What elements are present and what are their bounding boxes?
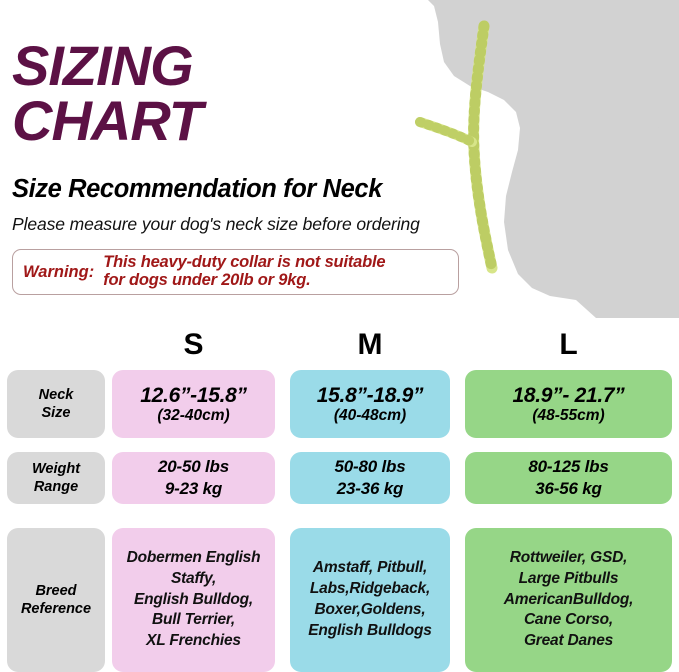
- cell-line-3: AmericanBulldog,: [504, 590, 633, 611]
- cell-line-4: English Bulldogs: [308, 621, 431, 642]
- cell-breed-reference-m: Amstaff, Pitbull,Labs,Ridgeback,Boxer,Go…: [290, 528, 450, 672]
- cell-line-2: Labs,Ridgeback,: [310, 579, 430, 600]
- column-header-m: M: [290, 330, 450, 360]
- cell-line-1: Rottweiler, GSD,: [510, 548, 627, 569]
- cell-sub-value: (32-40cm): [157, 407, 229, 425]
- row-label-line-2: Size: [41, 404, 70, 422]
- row-label-line-1: Breed: [35, 582, 76, 600]
- cell-neck-size-s: 12.6”-15.8”(32-40cm): [112, 370, 275, 438]
- column-header-l: L: [465, 330, 672, 360]
- title-line-1: SIZING: [12, 38, 432, 93]
- warning-box: Warning: This heavy-duty collar is not s…: [12, 249, 459, 295]
- cell-main-value: 12.6”-15.8”: [140, 384, 246, 407]
- table-row-breed-reference: BreedReferenceDobermen EnglishStaffy,Eng…: [0, 528, 679, 672]
- cell-sub-value: (40-48cm): [334, 407, 406, 425]
- cell-sub-value: (48-55cm): [532, 407, 604, 425]
- cell-line-5: Great Danes: [524, 631, 613, 652]
- cell-breed-reference-s: Dobermen EnglishStaffy,English Bulldog,B…: [112, 528, 275, 672]
- cell-line-2: Staffy,: [171, 569, 216, 590]
- cell-line-4: Cane Corso,: [524, 610, 613, 631]
- cell-main-value: 18.9”- 21.7”: [513, 384, 625, 407]
- table-row-neck-size: NeckSize12.6”-15.8”(32-40cm)15.8”-18.9”(…: [0, 370, 679, 438]
- cell-breed-reference-l: Rottweiler, GSD,Large PitbullsAmericanBu…: [465, 528, 672, 672]
- warning-line-2: for dogs under 20lb or 9kg.: [103, 272, 385, 290]
- row-label-breed-reference: BreedReference: [7, 528, 105, 672]
- row-label-line-1: Neck: [39, 386, 74, 404]
- row-label-weight-range: WeightRange: [7, 452, 105, 504]
- row-label-line-2: Range: [34, 478, 78, 496]
- table-row-weight-range: WeightRange20-50 lbs9-23 kg50-80 lbs23-3…: [0, 452, 679, 504]
- cell-line-1: 50-80 lbs: [335, 456, 406, 478]
- cell-main-value: 15.8”-18.9”: [317, 384, 423, 407]
- page-title: SIZING CHART: [12, 38, 432, 149]
- row-label-line-1: Weight: [32, 460, 80, 478]
- instruction-text: Please measure your dog's neck size befo…: [12, 214, 482, 235]
- cell-line-2: 9-23 kg: [165, 478, 222, 500]
- cell-line-1: Amstaff, Pitbull,: [313, 558, 427, 579]
- title-line-2: CHART: [12, 93, 432, 148]
- cell-line-2: 36-56 kg: [535, 478, 601, 500]
- cell-line-1: 20-50 lbs: [158, 456, 229, 478]
- cell-weight-range-m: 50-80 lbs23-36 kg: [290, 452, 450, 504]
- cell-line-1: Dobermen English: [127, 548, 261, 569]
- cell-line-4: Bull Terrier,: [152, 610, 235, 631]
- cell-neck-size-m: 15.8”-18.9”(40-48cm): [290, 370, 450, 438]
- row-label-neck-size: NeckSize: [7, 370, 105, 438]
- column-header-row: S M L: [0, 330, 679, 362]
- cell-line-3: English Bulldog,: [134, 590, 253, 611]
- warning-line-1: This heavy-duty collar is not suitable: [103, 254, 385, 272]
- row-label-line-2: Reference: [21, 600, 91, 618]
- size-table: S M L NeckSize12.6”-15.8”(32-40cm)15.8”-…: [0, 330, 679, 672]
- column-header-s: S: [112, 330, 275, 360]
- warning-message: This heavy-duty collar is not suitable f…: [103, 254, 385, 289]
- cell-neck-size-l: 18.9”- 21.7”(48-55cm): [465, 370, 672, 438]
- cell-line-2: Large Pitbulls: [519, 569, 619, 590]
- subtitle: Size Recommendation for Neck: [12, 175, 482, 204]
- sizing-chart-page: SIZING CHART Size Recommendation for Nec…: [0, 0, 679, 672]
- cell-line-1: 80-125 lbs: [528, 456, 608, 478]
- cell-line-3: Boxer,Goldens,: [315, 600, 426, 621]
- cell-line-5: XL Frenchies: [146, 631, 241, 652]
- cell-weight-range-l: 80-125 lbs36-56 kg: [465, 452, 672, 504]
- warning-label: Warning:: [13, 263, 103, 282]
- cell-line-2: 23-36 kg: [337, 478, 403, 500]
- cell-weight-range-s: 20-50 lbs9-23 kg: [112, 452, 275, 504]
